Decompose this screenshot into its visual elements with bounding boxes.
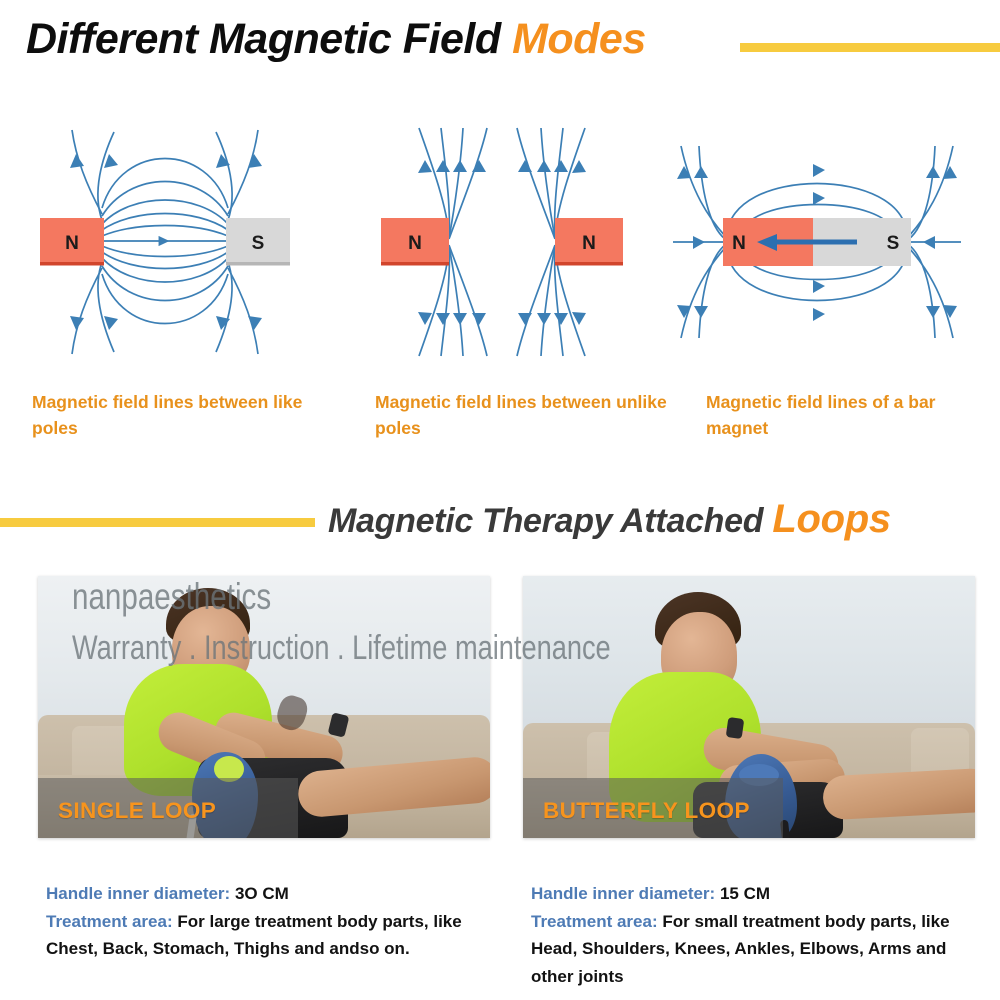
diagram-bar-magnet: N S <box>665 110 990 375</box>
spec-area-line: Treatment area: For small treatment body… <box>531 908 991 991</box>
section-2-header: Magnetic Therapy Attached Loops <box>0 492 1000 552</box>
spec-diameter-line: Handle inner diameter: 3O CM <box>46 880 506 908</box>
diagram-unlike-poles: N N <box>355 110 655 375</box>
photo-label-single-loop: SINGLE LOOP <box>58 798 216 824</box>
magnet-left-label: N <box>408 233 422 254</box>
spec-area-label: Treatment area: <box>531 912 658 931</box>
diagram-like-poles: N S <box>18 110 318 375</box>
bar-magnet-south-label: S <box>887 233 900 254</box>
spec-diameter-value: 15 CM <box>720 884 770 903</box>
header-rule-left <box>0 518 315 527</box>
spec-area-label: Treatment area: <box>46 912 173 931</box>
magnet-south-label: S <box>252 233 265 254</box>
diagram-caption-bar-magnet: Magnetic field lines of a bar magnet <box>706 390 986 442</box>
magnet-north-label: N <box>65 233 79 254</box>
section-2-title-accent: Loops <box>772 497 890 541</box>
header-rule-right <box>740 43 1000 52</box>
section-1-header: Different Magnetic Field Modes <box>0 0 1000 92</box>
bar-magnet-north-label: N <box>732 233 746 254</box>
diagram-caption-like-poles: Magnetic field lines between like poles <box>32 390 332 442</box>
person-wristwatch <box>726 717 745 739</box>
person-leg <box>822 768 975 821</box>
photo-card-single-loop[interactable]: SINGLE LOOP <box>38 576 490 838</box>
diagram-bar-magnet-svg: N S <box>665 110 990 375</box>
diagram-caption-unlike-poles: Magnetic field lines between unlike pole… <box>375 390 675 442</box>
page-title-primary: Different Magnetic Field <box>26 15 512 63</box>
photo-label-butterfly-loop: BUTTERFLY LOOP <box>543 798 750 824</box>
spec-diameter-line: Handle inner diameter: 15 CM <box>531 880 991 908</box>
magnetic-field-diagrams: N S <box>0 110 1000 380</box>
spec-block-butterfly-loop: Handle inner diameter: 15 CM Treatment a… <box>531 880 991 990</box>
magnet-right-label: N <box>582 233 596 254</box>
spec-diameter-value: 3O CM <box>235 884 289 903</box>
spec-diameter-label: Handle inner diameter: <box>46 884 230 903</box>
product-specifications: Handle inner diameter: 3O CM Treatment a… <box>0 880 1000 990</box>
page-title-accent: Modes <box>512 15 646 63</box>
diagram-captions: Magnetic field lines between like poles … <box>0 390 1000 460</box>
section-2-title-primary: Magnetic Therapy Attached <box>328 502 772 540</box>
spec-diameter-label: Handle inner diameter: <box>531 884 715 903</box>
photo-card-butterfly-loop[interactable]: BUTTERFLY LOOP <box>523 576 975 838</box>
section-2-title: Magnetic Therapy Attached Loops <box>328 499 891 539</box>
diagram-like-poles-svg: N S <box>18 110 318 375</box>
product-photos: SINGLE LOOP BUTTERFLY LOOP <box>0 576 1000 838</box>
spec-area-line: Treatment area: For large treatment body… <box>46 908 506 963</box>
spec-block-single-loop: Handle inner diameter: 3O CM Treatment a… <box>46 880 506 963</box>
diagram-unlike-poles-svg: N N <box>355 110 655 375</box>
page-title: Different Magnetic Field Modes <box>26 18 646 61</box>
